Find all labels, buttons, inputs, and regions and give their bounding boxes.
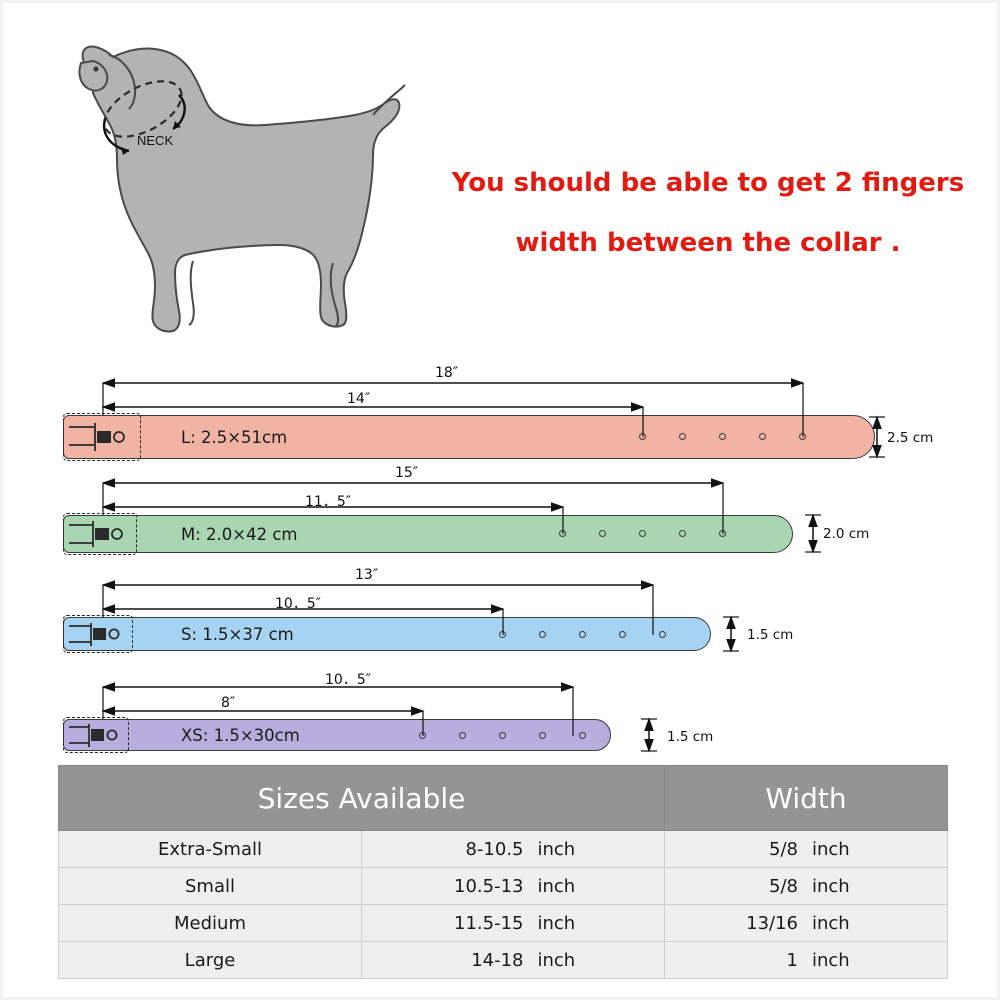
collar-hole (679, 530, 686, 537)
row-range-unit: inch (524, 839, 598, 860)
row-range: 8-10.5inch (362, 831, 665, 868)
size-table: Sizes Available Width Extra-Small 8-10.5… (58, 765, 948, 979)
collar-hole (619, 631, 626, 638)
row-range: 14-18inch (362, 942, 665, 979)
row-width-value: 5/8 (740, 876, 798, 897)
row-range-unit: inch (524, 950, 598, 971)
headline: You should be able to get 2 fingers widt… (423, 153, 993, 273)
collar-hole (499, 732, 506, 739)
collar-buckle-xsmall (63, 717, 129, 753)
collar-buckle-small (63, 615, 133, 653)
row-width: 5/8inch (665, 831, 948, 868)
collar-hole (539, 631, 546, 638)
collar-hole (459, 732, 466, 739)
headline-line-2: width between the collar . (423, 213, 993, 273)
collar-hole (719, 433, 726, 440)
dim-small-outer: 13″ (355, 567, 378, 583)
row-width: 5/8inch (665, 868, 948, 905)
row-range-unit: inch (524, 876, 598, 897)
collar-hole (599, 530, 606, 537)
row-width-unit: inch (798, 913, 872, 934)
width-medium: 2.0 cm (823, 526, 869, 542)
row-width: 13/16inch (665, 905, 948, 942)
collar-hole (559, 530, 566, 537)
collar-hole (659, 631, 666, 638)
row-width-value: 5/8 (740, 839, 798, 860)
dim-xsmall-inner: 8″ (221, 695, 235, 711)
row-name: Medium (59, 905, 362, 942)
dim-medium-inner: 11．5″ (305, 491, 351, 511)
width-large: 2.5 cm (887, 430, 933, 446)
collar-body-xsmall (63, 719, 611, 751)
dog-shape-svg: NECK (33, 23, 413, 353)
row-range-value: 11.5-15 (429, 913, 524, 934)
size-chart-page: NECK You should be able to get 2 fingers… (0, 0, 1000, 1000)
dim-small-inner: 10．5″ (275, 593, 321, 613)
dim-medium-outer: 15″ (395, 465, 418, 481)
table-row: Medium 11.5-15inch 13/16inch (59, 905, 948, 942)
collar-label-medium: M: 2.0×42 cm (181, 525, 298, 544)
table-row: Extra-Small 8-10.5inch 5/8inch (59, 831, 948, 868)
row-name: Small (59, 868, 362, 905)
row-width: 1inch (665, 942, 948, 979)
width-xsmall: 1.5 cm (667, 729, 713, 745)
collar-hole (639, 433, 646, 440)
table-header-row: Sizes Available Width (59, 766, 948, 831)
collar-label-xsmall: XS: 1.5×30cm (181, 726, 300, 745)
row-range-value: 14-18 (429, 950, 524, 971)
collar-hole (679, 433, 686, 440)
collar-hole (579, 732, 586, 739)
table-row: Small 10.5-13inch 5/8inch (59, 868, 948, 905)
collar-hole (539, 732, 546, 739)
row-width-value: 13/16 (740, 913, 798, 934)
table-header-sizes: Sizes Available (59, 766, 665, 831)
collar-buckle-medium (63, 513, 137, 555)
collar-hole (419, 732, 426, 739)
dim-large-inner: 14″ (347, 391, 370, 407)
collar-label-large: L: 2.5×51cm (181, 428, 287, 447)
collar-hole (639, 530, 646, 537)
collar-hole (499, 631, 506, 638)
dim-xsmall-outer: 10．5″ (325, 669, 371, 689)
row-width-unit: inch (798, 839, 872, 860)
row-range-unit: inch (524, 913, 598, 934)
neck-label: NECK (137, 133, 173, 148)
table-header-width: Width (665, 766, 948, 831)
collar-hole (759, 433, 766, 440)
row-name: Large (59, 942, 362, 979)
collar-hole (719, 530, 726, 537)
row-name: Extra-Small (59, 831, 362, 868)
row-width-unit: inch (798, 950, 872, 971)
width-small: 1.5 cm (747, 627, 793, 643)
collar-hole (799, 433, 806, 440)
headline-line-1: You should be able to get 2 fingers (423, 153, 993, 213)
dog-illustration: NECK (33, 23, 413, 353)
row-range-value: 8-10.5 (429, 839, 524, 860)
row-width-unit: inch (798, 876, 872, 897)
collar-label-small: S: 1.5×37 cm (181, 625, 294, 644)
row-width-value: 1 (740, 950, 798, 971)
table-row: Large 14-18inch 1inch (59, 942, 948, 979)
row-range: 11.5-15inch (362, 905, 665, 942)
row-range: 10.5-13inch (362, 868, 665, 905)
collar-hole (579, 631, 586, 638)
collar-body-small (63, 617, 711, 651)
collar-buckle-large (63, 413, 141, 461)
row-range-value: 10.5-13 (429, 876, 524, 897)
dim-large-outer: 18″ (435, 365, 458, 381)
